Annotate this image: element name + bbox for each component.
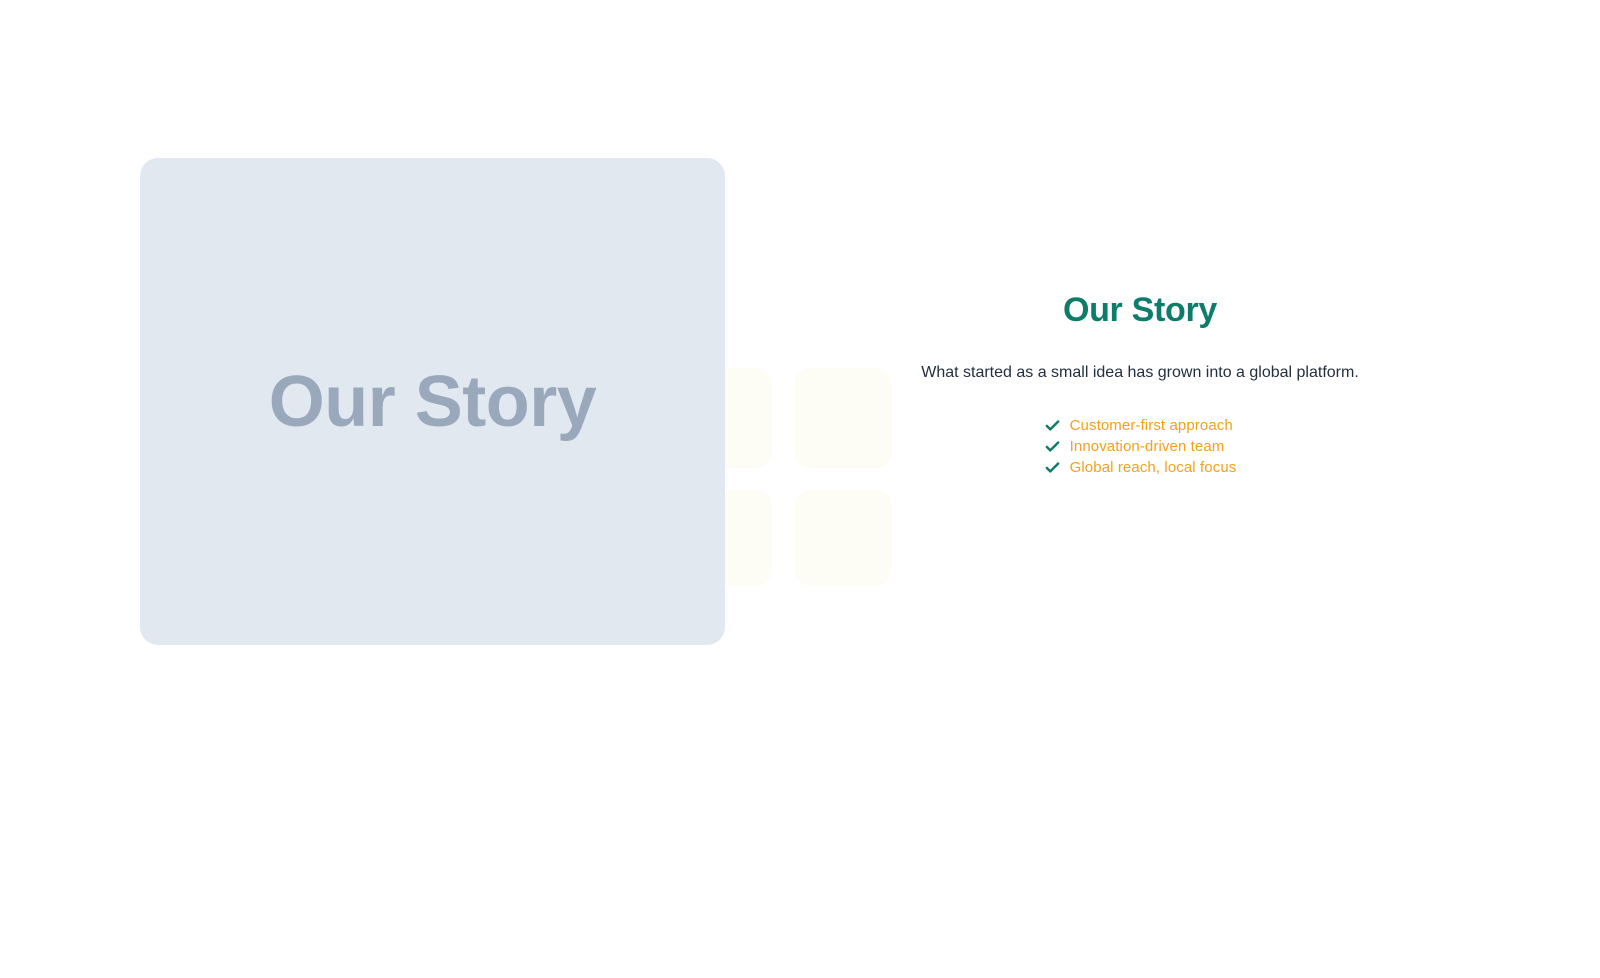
decorative-square-grid [700, 368, 892, 586]
feature-list-item: Global reach, local focus [1044, 457, 1237, 478]
decorative-square-4 [794, 490, 892, 586]
section-paragraph: What started as a small idea has grown i… [900, 361, 1380, 385]
check-icon [1044, 438, 1061, 455]
feature-list-item: Innovation-driven team [1044, 436, 1237, 457]
decorative-square-2 [794, 368, 892, 468]
check-icon [1044, 459, 1061, 476]
media-placeholder-label: Our Story [269, 366, 597, 438]
our-story-section: Our Story Our Story What started as a sm… [0, 0, 1600, 978]
feature-label: Global reach, local focus [1070, 457, 1237, 478]
check-icon [1044, 417, 1061, 434]
feature-label: Innovation-driven team [1070, 436, 1225, 457]
feature-list: Customer-first approach Innovation-drive… [1044, 415, 1237, 478]
content-column: Our Story What started as a small idea h… [900, 290, 1380, 481]
media-placeholder: Our Story [140, 158, 725, 645]
section-heading: Our Story [900, 290, 1380, 331]
feature-list-item: Customer-first approach [1044, 415, 1237, 436]
feature-label: Customer-first approach [1070, 415, 1233, 436]
